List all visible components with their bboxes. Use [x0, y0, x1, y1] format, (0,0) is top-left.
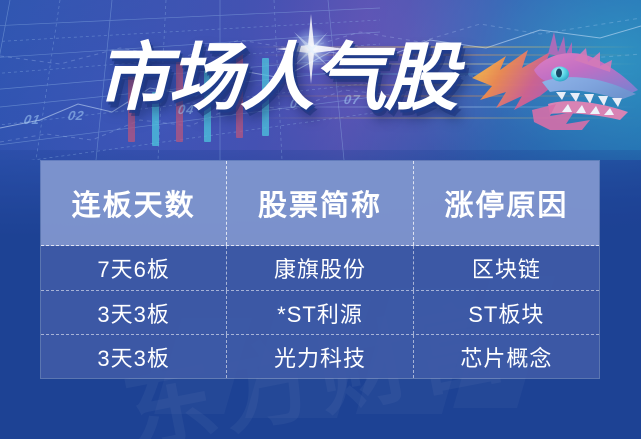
cell-name: *ST利源	[226, 291, 412, 334]
column-header-days: 连板天数	[41, 161, 226, 245]
grid-label-02: 02	[67, 108, 86, 123]
cell-reason: ST板块	[413, 291, 599, 334]
poster-canvas: 01 02 04 06 07 东方财富	[0, 0, 641, 439]
poster-title: 市场人气股	[96, 32, 516, 124]
table-header-row: 连板天数 股票简称 涨停原因	[41, 161, 599, 246]
cell-reason: 区块链	[413, 246, 599, 290]
table-body: 7天6板 康旗股份 区块链 3天3板 *ST利源 ST板块 3天3板 光力科技 …	[41, 246, 599, 378]
cell-reason: 芯片概念	[413, 335, 599, 378]
cell-days: 3天3板	[41, 291, 226, 334]
poster-title-wrap: 市场人气股	[96, 32, 516, 124]
cell-name: 光力科技	[226, 335, 412, 378]
cell-days: 7天6板	[41, 246, 226, 290]
cell-name: 康旗股份	[226, 246, 412, 290]
grid-label-01: 01	[22, 112, 42, 127]
stock-table: 连板天数 股票简称 涨停原因 7天6板 康旗股份 区块链 3天3板 *ST利源 …	[40, 160, 600, 379]
table-row: 3天3板 光力科技 芯片概念	[41, 334, 599, 378]
cell-days: 3天3板	[41, 335, 226, 378]
table-row: 7天6板 康旗股份 区块链	[41, 246, 599, 290]
column-header-name: 股票简称	[226, 161, 412, 245]
column-header-reason: 涨停原因	[413, 161, 599, 245]
table-row: 3天3板 *ST利源 ST板块	[41, 290, 599, 334]
